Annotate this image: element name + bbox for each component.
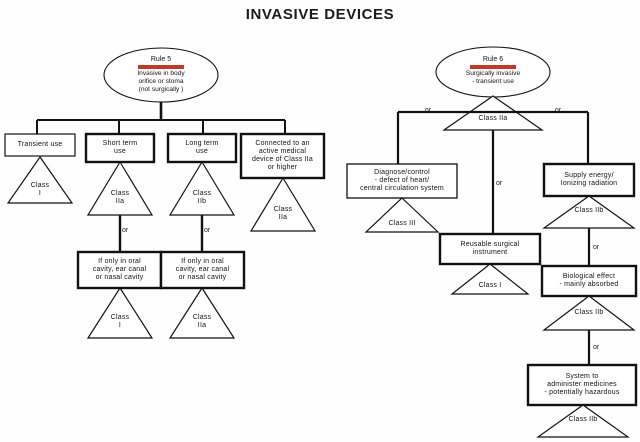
rule6-label: Rule 6 xyxy=(483,56,503,65)
rule5-content: Rule 5 Invasive in body orifice or stoma… xyxy=(106,52,216,98)
or-label-short-term: or xyxy=(122,225,144,237)
rule6-accent-bar xyxy=(470,65,516,69)
triangle-class-iia-short-label: Class IIa xyxy=(98,188,142,208)
box-biological-effect-label: Biological effect - mainly absorbed xyxy=(542,266,636,296)
box-administer-medicines-label: System to administer medicines - potenti… xyxy=(528,365,636,405)
box-diagnose-control-label: Diagnose/control - defect of heart/ cent… xyxy=(347,164,457,198)
rule6-content: Rule 6 Surgically invasive - transient u… xyxy=(438,52,548,90)
box-long-term-use-label: Long term use xyxy=(168,134,236,162)
triangle-class-iib-long-label: Class IIb xyxy=(180,188,224,208)
box-transient-use-label: Transient use xyxy=(5,134,75,156)
box-reusable-instrument-label: Reusable surgical instrument xyxy=(440,234,540,264)
or-label-long-term: or xyxy=(204,225,226,237)
or-label-rule6-left: or xyxy=(418,105,438,117)
triangle-class-iii-label: Class III xyxy=(377,218,427,230)
rule5-accent-bar xyxy=(138,65,184,69)
triangle-class-i-transient-label: Class I xyxy=(18,180,62,200)
rule5-text: Invasive in body orifice or stoma (not s… xyxy=(137,70,184,95)
rule5-label: Rule 5 xyxy=(151,56,171,65)
triangle-class-i-oral-label: Class I xyxy=(98,312,142,332)
box-oral-cavity-long-label: If only in oral cavity, ear canal or nas… xyxy=(161,252,244,288)
triangle-class-iia-connected-label: Class IIa xyxy=(261,204,305,224)
triangle-class-iib-energy-label: Class IIb xyxy=(563,205,615,217)
or-label-medicines: or xyxy=(593,342,613,354)
rule6-text: Surgically invasive - transient use xyxy=(466,70,520,86)
box-supply-energy-label: Supply energy/ Ionizing radiation xyxy=(544,164,634,196)
diagram-canvas: INVASIVE DEVICES xyxy=(0,0,640,442)
triangle-class-i-reusable-label: Class I xyxy=(465,280,515,292)
triangle-class-iib-biological-label: Class IIb xyxy=(563,307,615,319)
triangle-class-iib-medicines-label: Class IIb xyxy=(557,414,609,426)
or-label-rule6-right: or xyxy=(548,105,568,117)
box-connected-active-device-label: Connected to an active medical device of… xyxy=(241,134,324,178)
triangle-class-iia-default-label: Class IIa xyxy=(463,113,523,125)
or-label-biological: or xyxy=(593,242,613,254)
triangle-class-iia-oral-label: Class IIa xyxy=(180,312,224,332)
box-oral-cavity-short-label: If only in oral cavity, ear canal or nas… xyxy=(78,252,161,288)
box-short-term-use-label: Short term use xyxy=(86,134,154,162)
or-label-rule6-center: or xyxy=(496,178,516,190)
